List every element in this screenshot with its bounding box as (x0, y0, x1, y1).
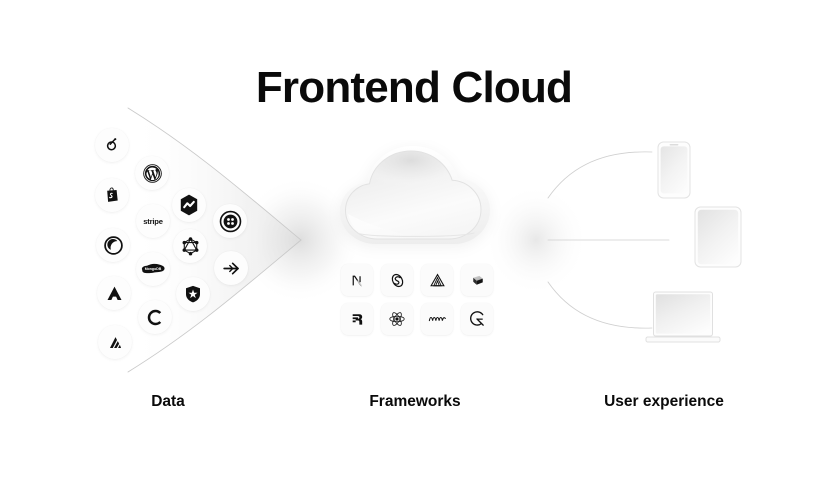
react-icon[interactable] (381, 303, 413, 335)
laptop-device (645, 291, 721, 352)
stripe-wordmark: stripe (143, 217, 162, 226)
dots-circle-icon[interactable] (213, 204, 247, 238)
frontend-cloud-graphic (318, 140, 514, 264)
connector-line-phone (548, 152, 652, 198)
shopify-icon[interactable] (95, 178, 129, 212)
column-label-frameworks: Frameworks (369, 393, 460, 411)
gatsby-icon[interactable] (461, 303, 493, 335)
frameworks-grid (341, 264, 493, 335)
vite-icon[interactable] (421, 303, 453, 335)
stripe-icon[interactable]: stripe (136, 204, 170, 238)
sanity-icon[interactable] (98, 325, 132, 359)
moon-circle-icon[interactable] (96, 228, 130, 262)
nuxt-icon[interactable] (461, 264, 493, 296)
graphql-icon[interactable] (173, 229, 207, 263)
mongodb-icon[interactable]: MongoDB (136, 252, 170, 286)
connector-line-laptop (548, 282, 652, 328)
remix-icon[interactable] (341, 303, 373, 335)
svg-text:MongoDB: MongoDB (145, 267, 162, 271)
column-label-user-experience: User experience (604, 393, 724, 411)
wordpress-icon[interactable] (135, 156, 169, 190)
mux-hexagon-icon[interactable] (172, 188, 206, 222)
astro-icon[interactable] (421, 264, 453, 296)
contentful-hook-icon[interactable] (95, 128, 129, 162)
svelte-icon[interactable] (381, 264, 413, 296)
page-title: Frontend Cloud (0, 66, 828, 110)
contentful-c-icon[interactable] (138, 300, 172, 334)
column-label-data: Data (151, 393, 185, 411)
tablet-device (694, 206, 742, 273)
apollo-icon[interactable] (97, 276, 131, 310)
auth0-shield-icon[interactable] (176, 277, 210, 311)
nextjs-icon[interactable] (341, 264, 373, 296)
arrow-right-icon[interactable] (214, 251, 248, 285)
frontend-cloud-diagram: Frontend Cloud (0, 0, 828, 488)
phone-device (657, 141, 691, 204)
